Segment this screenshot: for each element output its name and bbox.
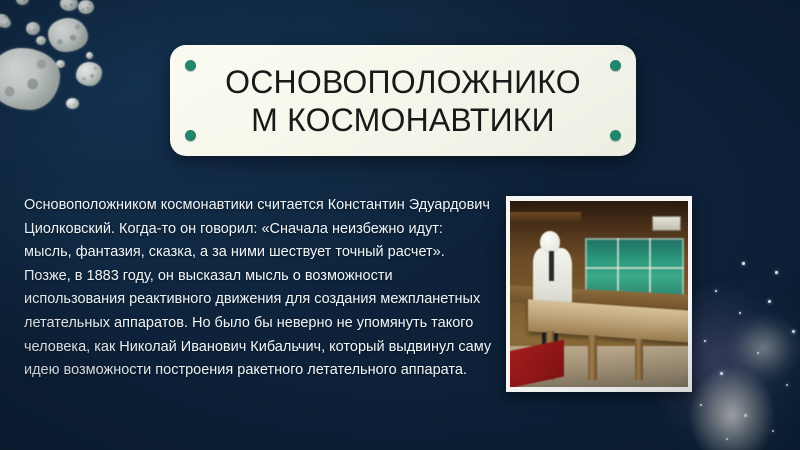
star-icon: [772, 430, 774, 432]
photo-frame: [506, 196, 692, 392]
asteroid-icon: [86, 52, 93, 59]
corner-dot-icon: [185, 60, 196, 71]
star-icon: [775, 271, 778, 274]
asteroid-icon: [66, 98, 79, 109]
asteroid-icon: [16, 0, 29, 5]
star-icon: [742, 262, 745, 265]
page-title: ОСНОВОПОЛОЖНИКО М КОСМОНАВТИКИ: [198, 63, 608, 139]
asteroid-cluster-icon: [0, 0, 186, 180]
star-icon: [786, 384, 788, 386]
star-icon: [704, 340, 706, 342]
body-paragraph: Основоположником космонавтики считается …: [24, 194, 494, 383]
star-icon: [700, 404, 702, 406]
asteroid-icon: [0, 48, 60, 110]
star-icon: [726, 438, 728, 440]
asteroid-icon: [56, 60, 65, 68]
asteroid-icon: [26, 22, 40, 35]
asteroid-icon: [0, 18, 11, 28]
asteroid-icon: [36, 36, 46, 45]
workshop-photo: [510, 201, 688, 387]
star-icon: [757, 352, 759, 354]
star-icon: [739, 312, 741, 314]
corner-dot-icon: [610, 130, 621, 141]
asteroid-icon: [76, 62, 102, 86]
title-card: ОСНОВОПОЛОЖНИКО М КОСМОНАВТИКИ: [170, 45, 636, 156]
presentation-slide: ОСНОВОПОЛОЖНИКО М КОСМОНАВТИКИ Основопол…: [0, 0, 800, 450]
star-icon: [792, 330, 795, 333]
star-icon: [720, 372, 723, 375]
corner-dot-icon: [185, 130, 196, 141]
star-icon: [768, 300, 771, 303]
star-icon: [744, 414, 747, 417]
asteroid-icon: [60, 0, 78, 11]
star-icon: [715, 290, 717, 292]
corner-dot-icon: [610, 60, 621, 71]
asteroid-icon: [78, 0, 94, 14]
photo-overlay: [510, 201, 688, 387]
asteroid-icon: [48, 18, 88, 52]
